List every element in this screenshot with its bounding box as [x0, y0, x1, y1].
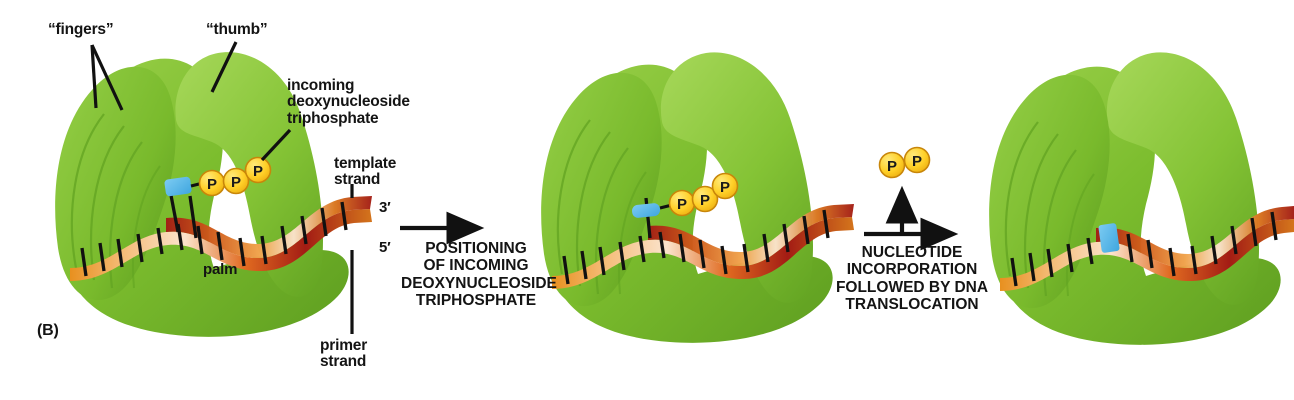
- svg-text:P: P: [700, 192, 710, 209]
- nucleotide-base-1: [164, 176, 192, 196]
- svg-text:P: P: [231, 174, 241, 191]
- label-palm: palm: [203, 262, 237, 278]
- step-1-caption: POSITIONING OF INCOMING DEOXYNUCLEOSIDE …: [401, 240, 551, 309]
- panel-3-polymerase: [989, 52, 1281, 344]
- figure-canvas: P P P: [0, 0, 1294, 400]
- step-2-arrow: [864, 192, 952, 236]
- svg-text:P: P: [912, 153, 922, 170]
- svg-text:P: P: [207, 176, 217, 193]
- label-template-strand: template strand: [334, 156, 396, 189]
- label-primer-strand: primer strand: [320, 338, 367, 371]
- step-2-caption: NUCLEOTIDE INCORPORATION FOLLOWED BY DNA…: [832, 244, 992, 313]
- label-fingers: “fingers”: [48, 22, 113, 38]
- label-three-prime: 3′: [379, 200, 391, 216]
- svg-text:P: P: [253, 163, 263, 180]
- label-incoming-dntp: incoming deoxynucleoside triphosphate: [287, 78, 410, 127]
- panel-label: (B): [37, 323, 59, 340]
- svg-text:P: P: [677, 196, 687, 213]
- released-pyrophosphate: P P: [880, 148, 930, 178]
- label-five-prime: 5′: [379, 240, 391, 256]
- svg-text:P: P: [720, 179, 730, 196]
- label-thumb: “thumb”: [206, 22, 267, 38]
- svg-text:P: P: [887, 158, 897, 175]
- diagram-svg: P P P: [0, 0, 1294, 400]
